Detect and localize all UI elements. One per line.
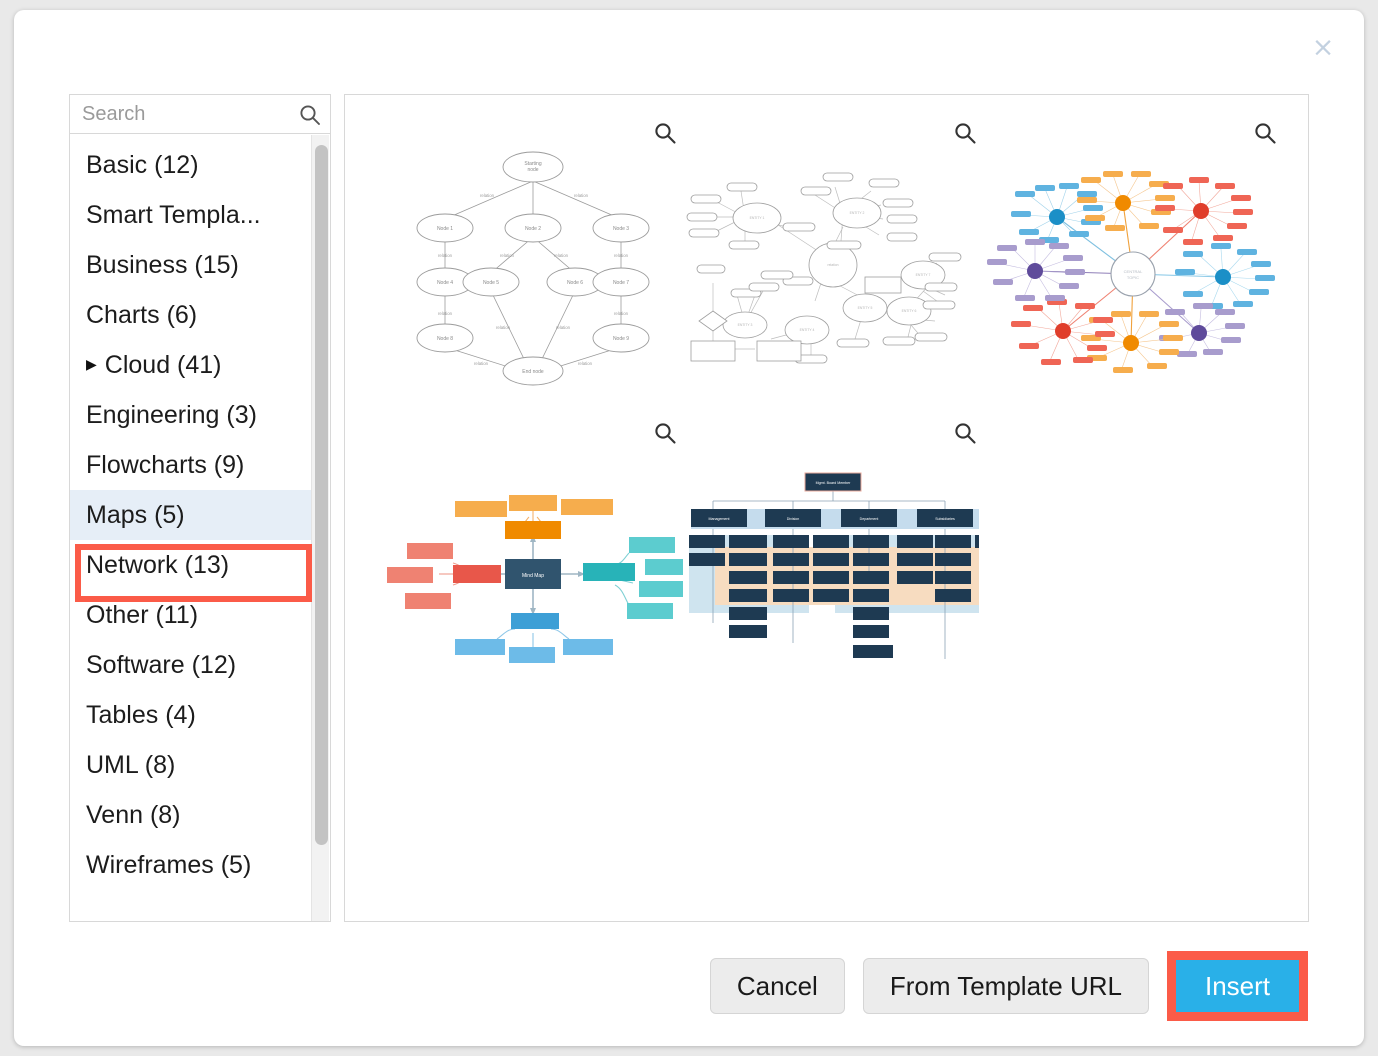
svg-text:Subsidiaries: Subsidiaries: [935, 517, 955, 521]
annotation-box-insert: Insert: [1167, 951, 1308, 1021]
sidebar-item-label: Engineering (3): [86, 401, 257, 430]
category-panel: Basic (12) Smart Templa... Business (15)…: [69, 134, 331, 922]
sidebar-item-label: Basic (12): [86, 151, 199, 180]
svg-text:ENTITY 5: ENTITY 5: [858, 306, 873, 310]
template-preview-image: Mgmt. Board Member Management: [683, 443, 983, 705]
svg-text:Node 7: Node 7: [613, 280, 629, 286]
svg-text:Division: Division: [787, 517, 800, 521]
svg-text:node: node: [527, 167, 538, 173]
svg-text:Department: Department: [860, 517, 879, 521]
sidebar-item-engineering[interactable]: Engineering (3): [70, 390, 313, 440]
sidebar-item-other[interactable]: Other (11): [70, 590, 313, 640]
sidebar-scrollbar[interactable]: [311, 135, 329, 921]
sidebar-item-basic[interactable]: Basic (12): [70, 140, 313, 190]
svg-text:relation: relation: [496, 325, 511, 330]
svg-text:CENTRAL: CENTRAL: [1124, 269, 1143, 274]
svg-text:Node 9: Node 9: [613, 336, 629, 342]
sidebar-item-charts[interactable]: Charts (6): [70, 290, 313, 340]
svg-text:relation: relation: [578, 361, 593, 366]
sidebar-item-label: Flowcharts (9): [86, 451, 244, 480]
svg-text:relation: relation: [574, 193, 589, 198]
svg-text:Management: Management: [709, 517, 730, 521]
template-thumb-node-graph[interactable]: Starting node Node 1 Node 2 Node 3 Node …: [383, 113, 683, 413]
sidebar-item-flowcharts[interactable]: Flowcharts (9): [70, 440, 313, 490]
svg-text:Node 6: Node 6: [567, 280, 583, 286]
sidebar-item-label: Software (12): [86, 651, 236, 680]
sidebar-item-label: Cloud (41): [105, 351, 222, 380]
svg-text:relation: relation: [827, 263, 838, 267]
template-thumb-branch-mind-map[interactable]: Mind Map: [383, 413, 683, 713]
sidebar-item-uml[interactable]: UML (8): [70, 740, 313, 790]
magnifier-icon[interactable]: [953, 121, 977, 145]
svg-text:End node: End node: [522, 369, 544, 375]
template-preview-image: ENTITY 1 ENTITY 2 relation ENTITY 3 ENTI…: [683, 143, 983, 405]
svg-text:relation: relation: [500, 253, 515, 258]
template-preview-image: Mind Map: [383, 443, 683, 705]
svg-text:Node 8: Node 8: [437, 336, 453, 342]
sidebar-item-label: Tables (4): [86, 701, 196, 730]
svg-text:relation: relation: [554, 253, 569, 258]
chevron-right-icon[interactable]: ▶: [86, 357, 97, 373]
template-thumb-entity-relationship[interactable]: ENTITY 1 ENTITY 2 relation ENTITY 3 ENTI…: [683, 113, 983, 413]
sidebar-item-software[interactable]: Software (12): [70, 640, 313, 690]
svg-text:Node 3: Node 3: [613, 226, 629, 232]
sidebar-item-maps[interactable]: Maps (5): [70, 490, 313, 540]
svg-text:ENTITY 1: ENTITY 1: [750, 216, 765, 220]
sidebar-item-label: Wireframes (5): [86, 851, 251, 880]
sidebar-item-network[interactable]: Network (13): [70, 540, 313, 590]
svg-text:relation: relation: [474, 361, 489, 366]
svg-text:Mind Map: Mind Map: [522, 573, 544, 579]
template-picker-dialog: × Basic (12): [14, 10, 1364, 1046]
screen-root: × Basic (12): [0, 0, 1378, 1056]
template-thumb-org-chart[interactable]: Mgmt. Board Member Management: [683, 413, 983, 713]
svg-text:relation: relation: [556, 325, 571, 330]
search-box[interactable]: [69, 94, 331, 134]
magnifier-icon[interactable]: [653, 121, 677, 145]
sidebar-item-label: Business (15): [86, 251, 239, 280]
svg-text:Node 4: Node 4: [437, 280, 453, 286]
svg-text:relation: relation: [438, 311, 453, 316]
svg-text:ENTITY 4: ENTITY 4: [800, 328, 815, 332]
sidebar-item-label: Network (13): [86, 551, 229, 580]
svg-text:Node 1: Node 1: [437, 226, 453, 232]
search-input[interactable]: [70, 95, 330, 133]
svg-text:Mgmt. Board Member: Mgmt. Board Member: [816, 481, 852, 485]
template-thumb-radial-mind-map[interactable]: CENTRAL TOPIC: [983, 113, 1283, 413]
template-preview-image: CENTRAL TOPIC: [983, 143, 1283, 405]
magnifier-icon[interactable]: [1253, 121, 1277, 145]
sidebar-item-business[interactable]: Business (15): [70, 240, 313, 290]
sidebar-item-label: Maps (5): [86, 501, 185, 530]
from-template-url-button[interactable]: From Template URL: [863, 958, 1149, 1014]
close-icon[interactable]: ×: [1306, 30, 1340, 64]
sidebar-item-label: Venn (8): [86, 801, 181, 830]
category-sidebar: Basic (12) Smart Templa... Business (15)…: [69, 94, 331, 922]
template-grid: Starting node Node 1 Node 2 Node 3 Node …: [345, 95, 1308, 921]
sidebar-item-wireframes[interactable]: Wireframes (5): [70, 840, 313, 890]
svg-text:Node 5: Node 5: [483, 280, 499, 286]
sidebar-item-label: Other (11): [86, 601, 198, 630]
dialog-footer: Cancel From Template URL Insert: [14, 948, 1364, 1024]
category-list: Basic (12) Smart Templa... Business (15)…: [70, 134, 313, 890]
svg-text:ENTITY 3: ENTITY 3: [738, 323, 753, 327]
svg-text:relation: relation: [438, 253, 453, 258]
svg-text:Node 2: Node 2: [525, 226, 541, 232]
dialog-body: Basic (12) Smart Templa... Business (15)…: [69, 94, 1309, 922]
svg-text:relation: relation: [614, 311, 629, 316]
magnifier-icon[interactable]: [953, 421, 977, 445]
template-preview-panel: Starting node Node 1 Node 2 Node 3 Node …: [344, 94, 1309, 922]
sidebar-item-label: Smart Templa...: [86, 201, 261, 230]
sidebar-item-label: UML (8): [86, 751, 175, 780]
svg-text:relation: relation: [614, 253, 629, 258]
sidebar-item-smart-templates[interactable]: Smart Templa...: [70, 190, 313, 240]
template-preview-image: Starting node Node 1 Node 2 Node 3 Node …: [383, 143, 683, 405]
svg-text:ENTITY 7: ENTITY 7: [916, 273, 931, 277]
svg-text:relation: relation: [480, 193, 495, 198]
sidebar-item-venn[interactable]: Venn (8): [70, 790, 313, 840]
svg-text:TOPIC: TOPIC: [1127, 275, 1139, 280]
sidebar-scrollbar-thumb[interactable]: [315, 145, 328, 845]
sidebar-item-label: Charts (6): [86, 301, 197, 330]
magnifier-icon[interactable]: [653, 421, 677, 445]
sidebar-item-tables[interactable]: Tables (4): [70, 690, 313, 740]
insert-button[interactable]: Insert: [1176, 960, 1299, 1012]
sidebar-item-cloud[interactable]: ▶ Cloud (41): [70, 340, 313, 390]
svg-text:ENTITY 6: ENTITY 6: [902, 309, 917, 313]
svg-text:ENTITY 2: ENTITY 2: [850, 211, 865, 215]
cancel-button[interactable]: Cancel: [710, 958, 845, 1014]
